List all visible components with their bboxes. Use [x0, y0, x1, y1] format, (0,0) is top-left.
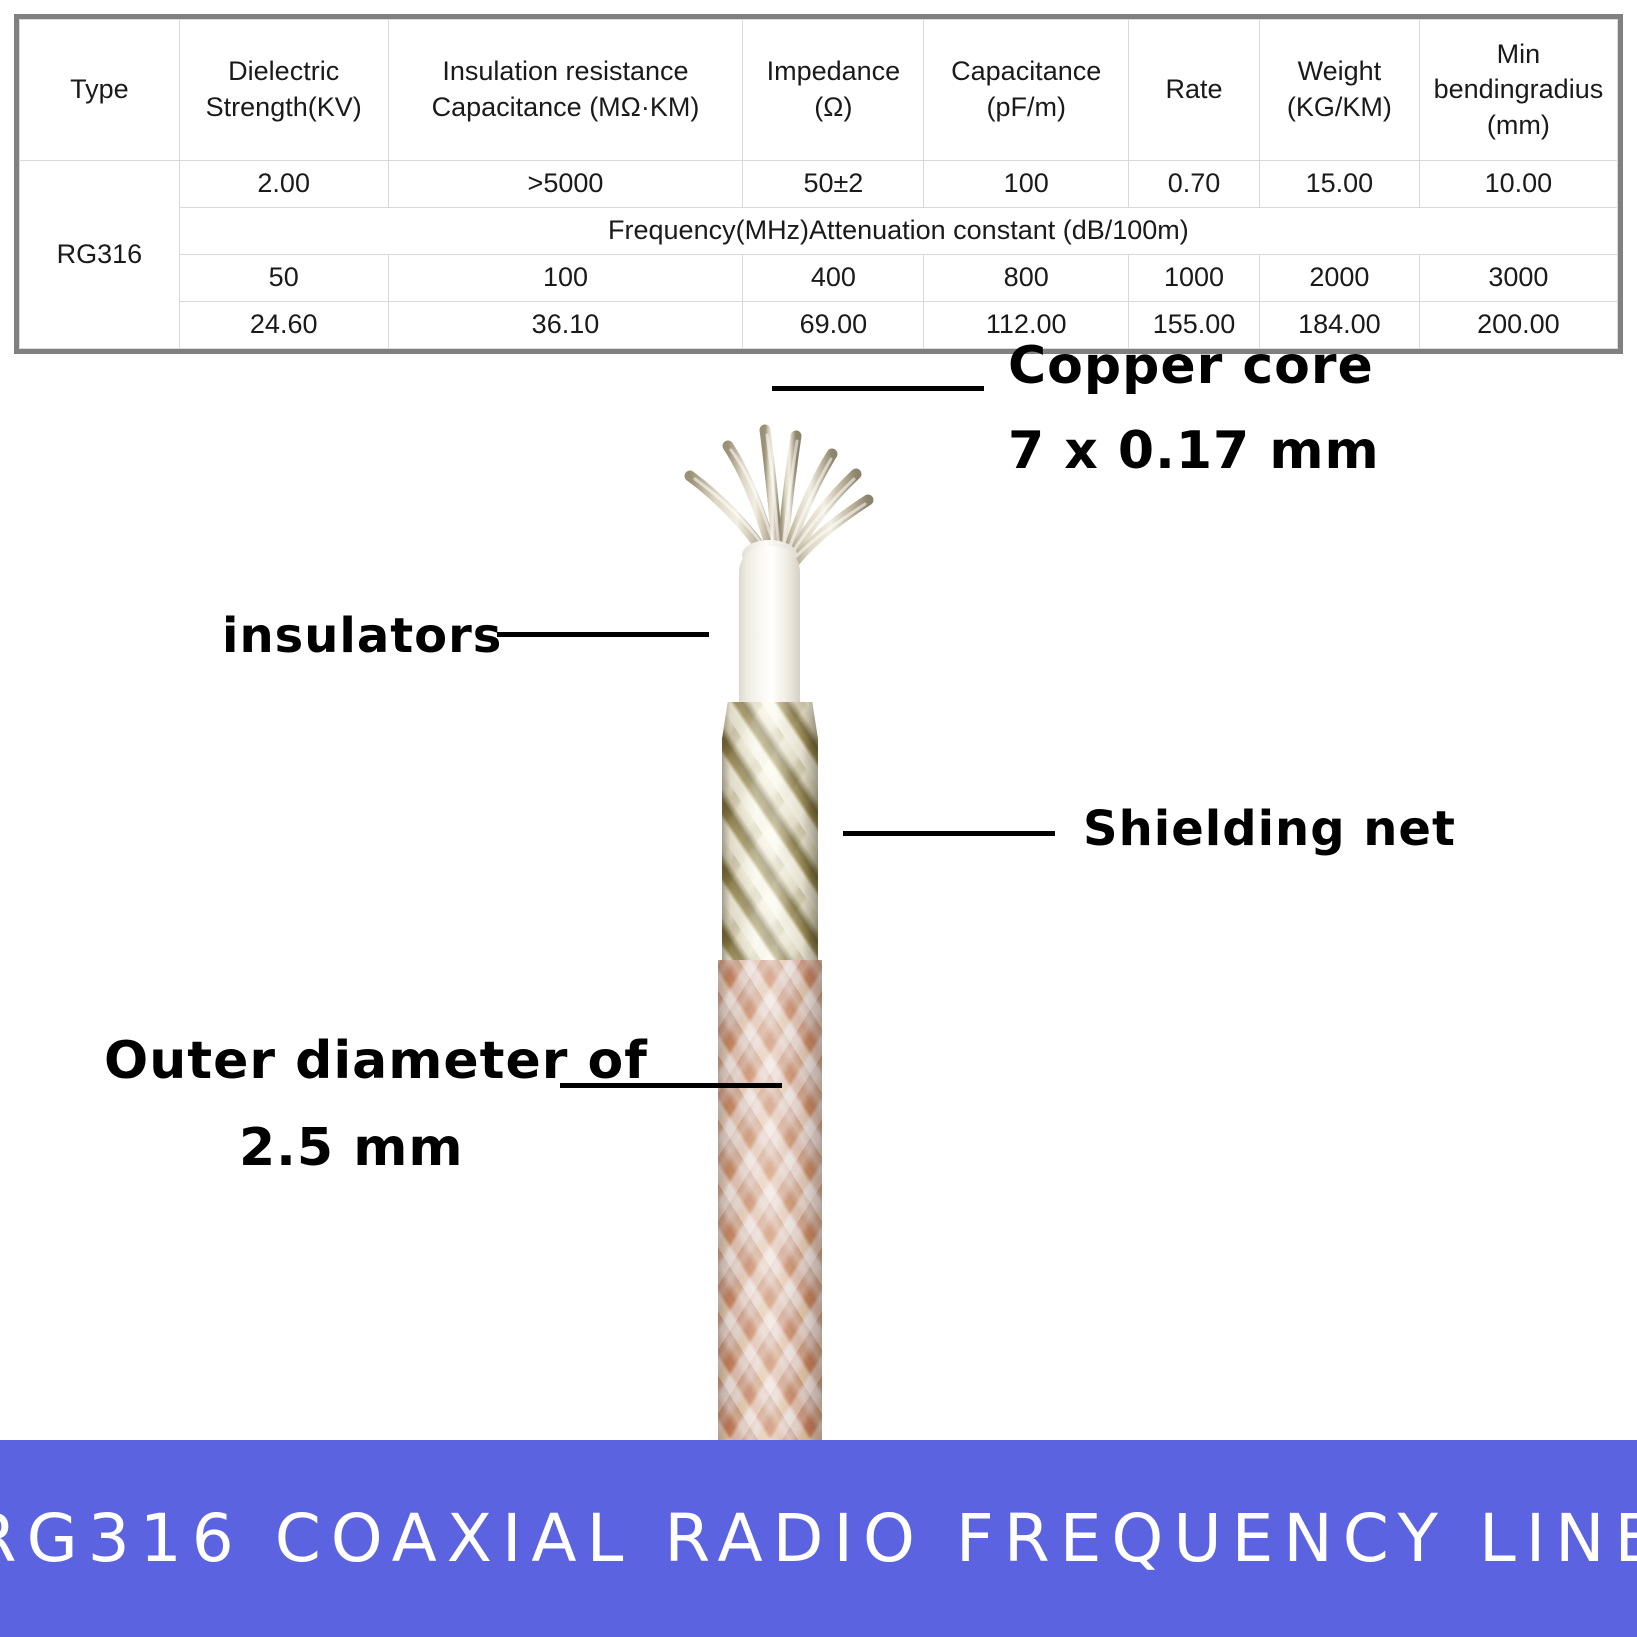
bottom-title-banner: RG316 COAXIAL RADIO FREQUENCY LINE — [0, 1440, 1637, 1637]
cell-frequency-attenuation-label: Frequency(MHz)Attenuation constant (dB/1… — [179, 208, 1617, 255]
cell-weight: 15.00 — [1260, 161, 1420, 208]
callout-outer-diameter: Outer diameter of 2.5 mm — [104, 1018, 648, 1193]
spec-table-container: Type Dielectric Strength(KV) Insulation … — [14, 14, 1623, 354]
cell-frequency-2000: 2000 — [1260, 255, 1420, 302]
header-min-bending-radius: Min bendingradius (mm) — [1419, 20, 1617, 161]
leader-line-copper-core — [772, 386, 984, 391]
callout-insulators: insulators — [222, 612, 502, 660]
cell-frequency-800: 800 — [924, 255, 1129, 302]
leader-line-shielding-net — [843, 831, 1055, 836]
cell-frequency-50: 50 — [179, 255, 388, 302]
cable-cutaway-diagram: Copper core 7 x 0.17 mm insulators Shiel… — [0, 318, 1637, 1440]
coaxial-cable-illustration — [0, 318, 1637, 1440]
table-header-row: Type Dielectric Strength(KV) Insulation … — [20, 20, 1618, 161]
header-insulation-resistance: Insulation resistance Capacitance (MΩ·KM… — [388, 20, 743, 161]
cell-min-bending-radius: 10.00 — [1419, 161, 1617, 208]
banner-title-text: RG316 COAXIAL RADIO FREQUENCY LINE — [0, 1500, 1637, 1577]
cell-impedance: 50±2 — [743, 161, 924, 208]
header-weight: Weight (KG/KM) — [1260, 20, 1420, 161]
cell-rate: 0.70 — [1128, 161, 1259, 208]
cell-dielectric-strength: 2.00 — [179, 161, 388, 208]
outer-jacket-body — [718, 960, 822, 1440]
cell-frequency-3000: 3000 — [1419, 255, 1617, 302]
cell-frequency-400: 400 — [743, 255, 924, 302]
product-spec-image: Type Dielectric Strength(KV) Insulation … — [0, 0, 1637, 1637]
cell-frequency-1000: 1000 — [1128, 255, 1259, 302]
header-capacitance: Capacitance (pF/m) — [924, 20, 1129, 161]
table-row-frequency: 50 100 400 800 1000 2000 3000 — [20, 255, 1618, 302]
header-rate: Rate — [1128, 20, 1259, 161]
table-row-spec: RG316 2.00 >5000 50±2 100 0.70 15.00 10.… — [20, 161, 1618, 208]
leader-line-insulators — [497, 632, 709, 637]
shielding-net-braid — [722, 702, 818, 966]
cell-insulation-resistance: >5000 — [388, 161, 743, 208]
callout-copper-core: Copper core 7 x 0.17 mm — [1008, 324, 1380, 494]
header-impedance: Impedance (Ω) — [743, 20, 924, 161]
table-row-section-label: Frequency(MHz)Attenuation constant (dB/1… — [20, 208, 1618, 255]
header-dielectric-strength: Dielectric Strength(KV) — [179, 20, 388, 161]
spec-table: Type Dielectric Strength(KV) Insulation … — [19, 19, 1618, 349]
header-type: Type — [20, 20, 180, 161]
callout-shielding-net: Shielding net — [1083, 805, 1456, 853]
cell-capacitance: 100 — [924, 161, 1129, 208]
cell-frequency-100: 100 — [388, 255, 743, 302]
dielectric-insulator-body — [739, 546, 800, 712]
